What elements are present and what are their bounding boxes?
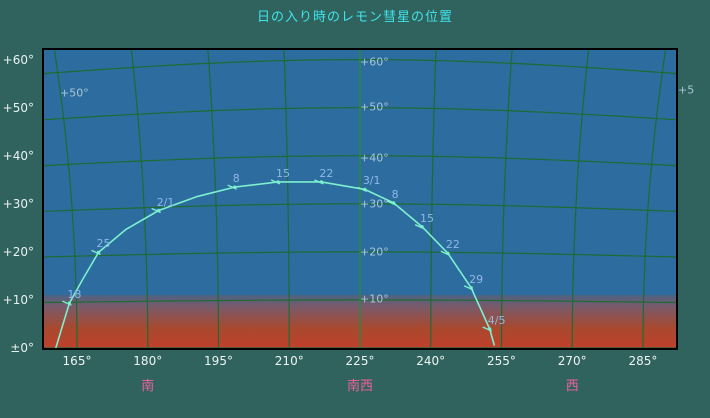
azimuth-tick-label-180: 180°: [133, 354, 162, 368]
page-title: 日の入り時のレモン彗星の位置: [0, 6, 710, 25]
altitude-tick-label-60: +60°: [3, 53, 34, 67]
azimuth-tick-label-255: 255°: [487, 354, 516, 368]
inner-altitude-label-3: +5: [678, 84, 700, 97]
sky-chart: 日の入り時のレモン彗星の位置 +60°+50°+40°+30°+20°+10°±…: [0, 0, 710, 418]
altitude-tick-label-40: +40°: [3, 149, 34, 163]
azimuth-tick-label-240: 240°: [416, 354, 445, 368]
altitude-tick-label-10: +10°: [3, 293, 34, 307]
plot-area: [42, 48, 678, 350]
compass-label-180: 南: [141, 375, 154, 394]
azimuth-tick-label-195: 195°: [204, 354, 233, 368]
altitude-tick-label-0: ±0°: [10, 341, 34, 355]
altitude-tick-label-50: +50°: [3, 101, 34, 115]
altitude-tick-label-30: +30°: [3, 197, 34, 211]
compass-label-270: 西: [566, 375, 579, 394]
azimuth-tick-label-270: 270°: [558, 354, 587, 368]
comet-path: [44, 50, 676, 348]
azimuth-tick-label-165: 165°: [63, 354, 92, 368]
azimuth-tick-label-285: 285°: [629, 354, 658, 368]
azimuth-tick-label-225: 225°: [346, 354, 375, 368]
altitude-tick-label-20: +20°: [3, 245, 34, 259]
compass-label-225: 南西: [347, 375, 373, 394]
azimuth-tick-label-210: 210°: [275, 354, 304, 368]
